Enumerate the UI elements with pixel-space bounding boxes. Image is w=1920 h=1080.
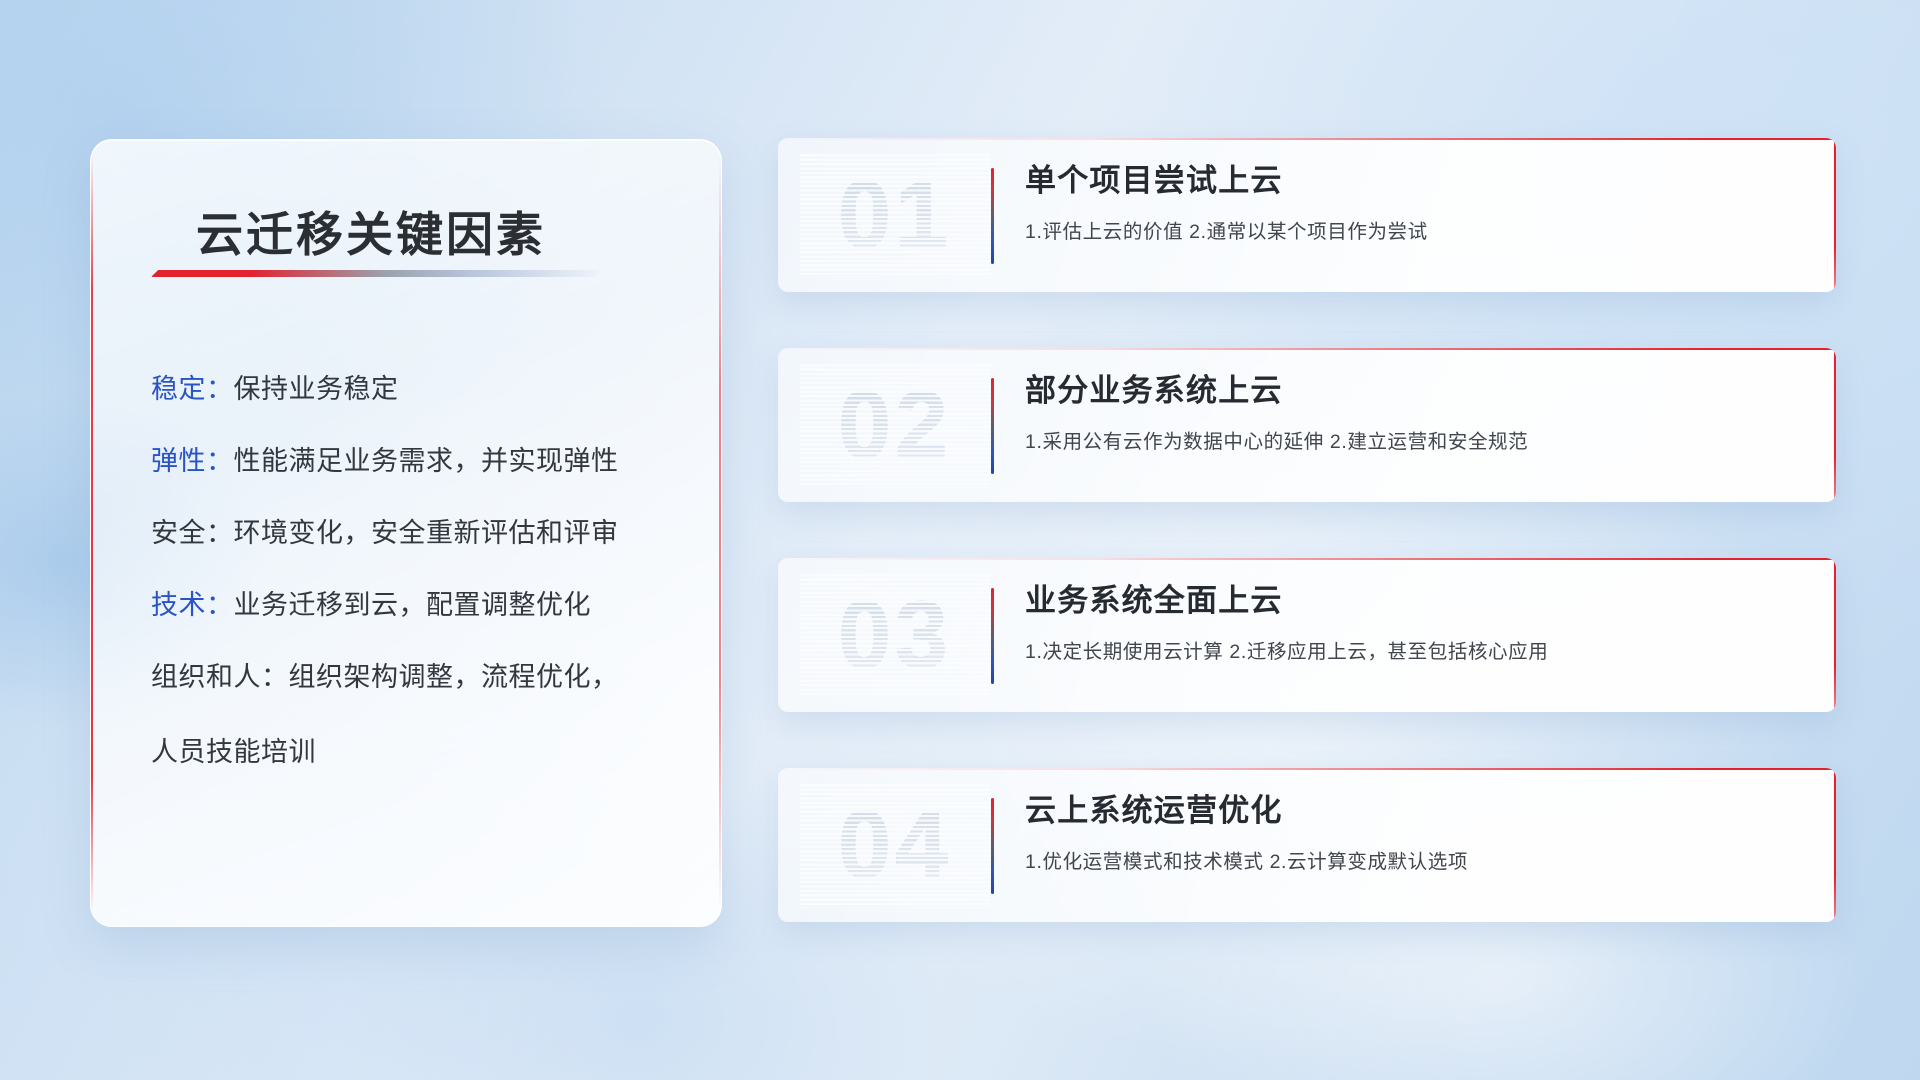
stage-number-watermark: 01 (800, 152, 990, 278)
factor-text: 环境变化，安全重新评估和评审 (234, 518, 619, 548)
stage-card-subtitle: 1.决定长期使用云计算 2.迁移应用上云，甚至包括核心应用 (1025, 635, 1808, 664)
stage-card[interactable]: 01 单个项目尝试上云 1.评估上云的价值 2.通常以某个项目作为尝试 (778, 138, 1836, 292)
factor-text: 组织架构调整，流程优化， (289, 662, 619, 692)
stage-card-text: 单个项目尝试上云 1.评估上云的价值 2.通常以某个项目作为尝试 (1025, 162, 1808, 244)
stage-divider-bar (991, 588, 994, 684)
stage-card-inner: 01 单个项目尝试上云 1.评估上云的价值 2.通常以某个项目作为尝试 (778, 138, 1836, 292)
stage-card[interactable]: 03 业务系统全面上云 1.决定长期使用云计算 2.迁移应用上云，甚至包括核心应… (778, 558, 1836, 712)
panel-title: 云迁移关键因素 (196, 196, 626, 265)
stage-number-watermark: 03 (800, 572, 990, 698)
factor-label: 组织和人： (151, 662, 289, 692)
factor-continuation-text: 人员技能培训 (151, 730, 687, 769)
stage-card-title: 单个项目尝试上云 (1025, 162, 1808, 199)
factor-text: 性能满足业务需求，并实现弹性 (234, 446, 619, 476)
stage-card-inner: 03 业务系统全面上云 1.决定长期使用云计算 2.迁移应用上云，甚至包括核心应… (778, 558, 1836, 712)
factor-text: 业务迁移到云，配置调整优化 (234, 590, 592, 620)
stage-card-text: 业务系统全面上云 1.决定长期使用云计算 2.迁移应用上云，甚至包括核心应用 (1025, 582, 1808, 664)
stage-card-subtitle: 1.采用公有云作为数据中心的延伸 2.建立运营和安全规范 (1025, 425, 1808, 454)
factor-item: 技术：业务迁移到云，配置调整优化 (151, 592, 687, 619)
stage-card-title: 业务系统全面上云 (1025, 582, 1808, 619)
stage-divider-bar (991, 378, 994, 474)
slide-stage: 云迁移关键因素 稳定：保持业务稳定 弹性：性能满足业务需求，并实现弹性 安全：环… (0, 0, 1920, 1080)
factor-item: 组织和人：组织架构调整，流程优化， (151, 664, 687, 691)
factor-list: 稳定：保持业务稳定 弹性：性能满足业务需求，并实现弹性 安全：环境变化，安全重新… (151, 376, 687, 769)
factor-label: 弹性： (151, 446, 234, 476)
factor-label: 技术： (151, 590, 234, 620)
stage-number-watermark: 02 (800, 362, 990, 488)
factor-text: 保持业务稳定 (234, 374, 399, 404)
stage-divider-bar (991, 168, 994, 264)
stage-card-title: 部分业务系统上云 (1025, 372, 1808, 409)
factor-label: 安全： (151, 518, 234, 548)
stage-card-inner: 04 云上系统运营优化 1.优化运营模式和技术模式 2.云计算变成默认选项 (778, 768, 1836, 922)
stage-card-text: 云上系统运营优化 1.优化运营模式和技术模式 2.云计算变成默认选项 (1025, 792, 1808, 874)
factor-item: 稳定：保持业务稳定 (151, 376, 687, 403)
stage-card-list: 01 单个项目尝试上云 1.评估上云的价值 2.通常以某个项目作为尝试 02 部… (778, 138, 1836, 922)
factor-item: 弹性：性能满足业务需求，并实现弹性 (151, 448, 687, 475)
factor-item: 安全：环境变化，安全重新评估和评审 (151, 520, 687, 547)
stage-card-subtitle: 1.评估上云的价值 2.通常以某个项目作为尝试 (1025, 215, 1808, 244)
stage-card-text: 部分业务系统上云 1.采用公有云作为数据中心的延伸 2.建立运营和安全规范 (1025, 372, 1808, 454)
stage-card-subtitle: 1.优化运营模式和技术模式 2.云计算变成默认选项 (1025, 845, 1808, 874)
factor-label: 稳定： (151, 374, 234, 404)
key-factors-panel: 云迁移关键因素 稳定：保持业务稳定 弹性：性能满足业务需求，并实现弹性 安全：环… (90, 139, 722, 927)
stage-card-inner: 02 部分业务系统上云 1.采用公有云作为数据中心的延伸 2.建立运营和安全规范 (778, 348, 1836, 502)
stage-card[interactable]: 04 云上系统运营优化 1.优化运营模式和技术模式 2.云计算变成默认选项 (778, 768, 1836, 922)
stage-number-watermark: 04 (800, 782, 990, 908)
stage-card-title: 云上系统运营优化 (1025, 792, 1808, 829)
title-underline-rule (151, 270, 601, 277)
stage-card[interactable]: 02 部分业务系统上云 1.采用公有云作为数据中心的延伸 2.建立运营和安全规范 (778, 348, 1836, 502)
stage-divider-bar (991, 798, 994, 894)
